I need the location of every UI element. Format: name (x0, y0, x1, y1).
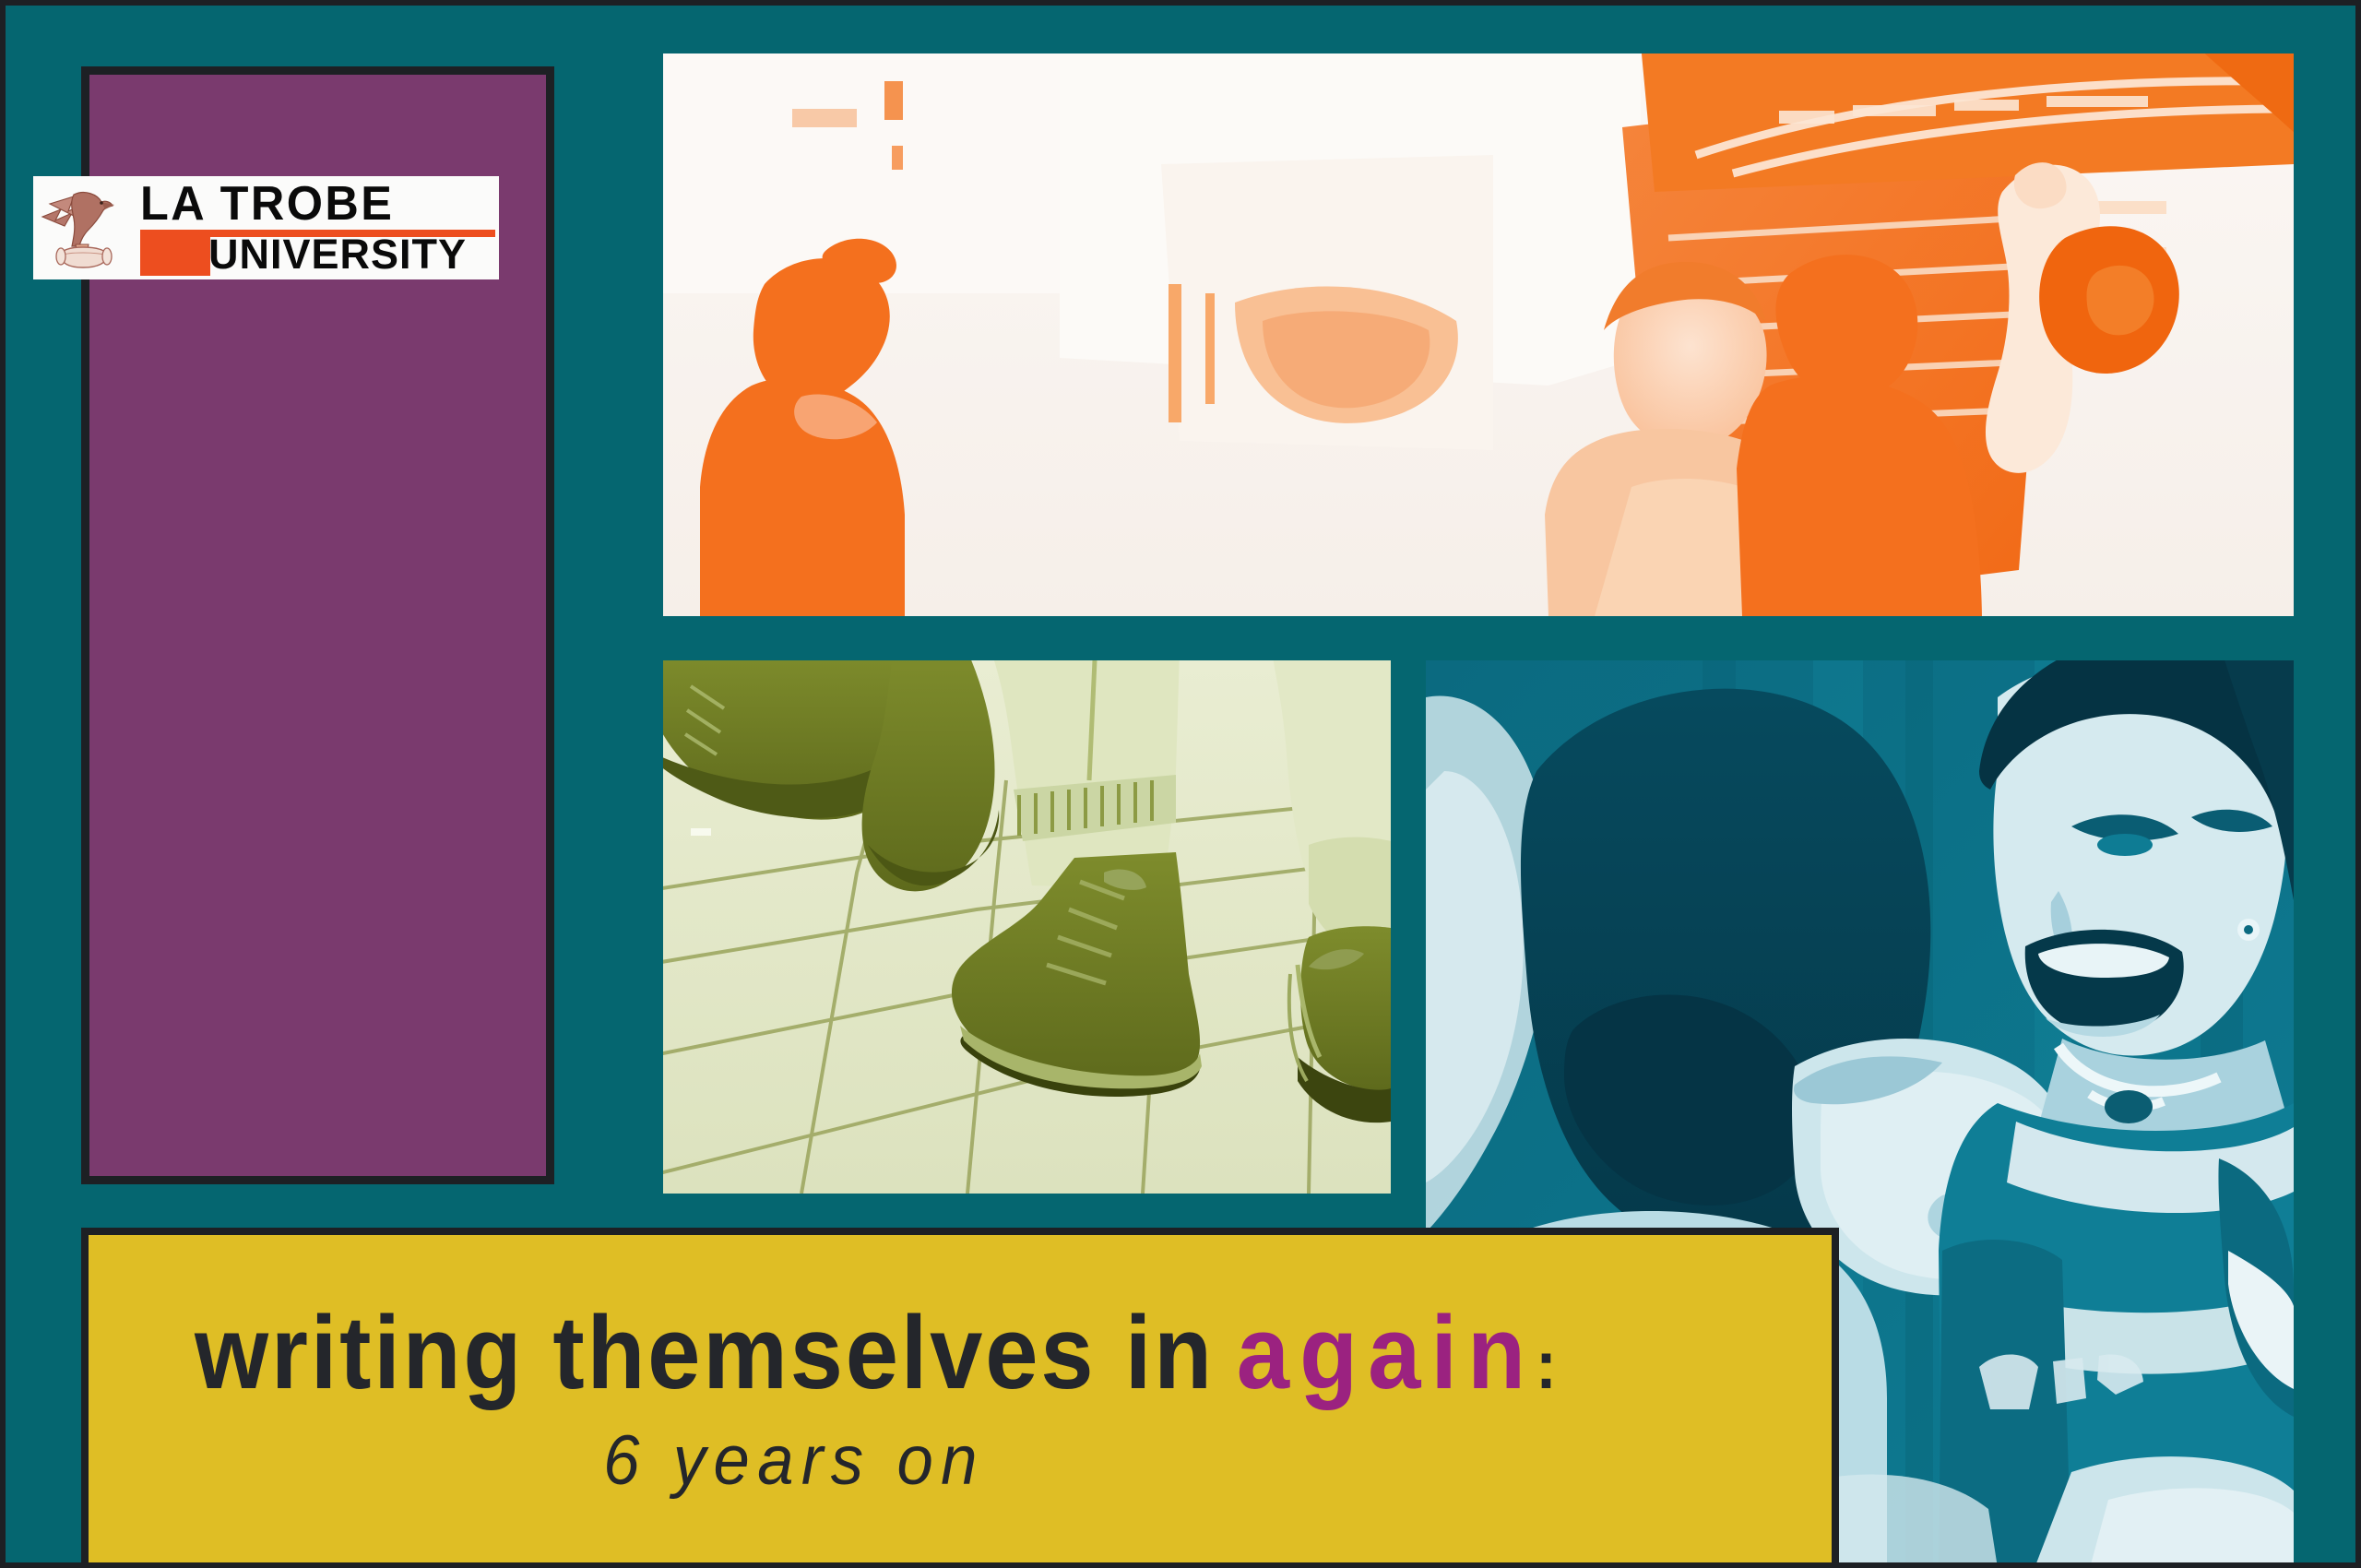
logo-wordmark: LA TROBE UNIVERSITY (133, 176, 499, 279)
photo-orange-payphone (663, 53, 2294, 616)
eagle-crest-icon (33, 176, 133, 279)
title-colon: : (1536, 1326, 1557, 1403)
poster-cover: LA TROBE UNIVERSITY (0, 0, 2361, 1568)
logo-orange-block (140, 230, 210, 276)
logo-line-la-trobe: LA TROBE (140, 180, 394, 228)
page-subtitle: 6 years on (138, 1426, 1451, 1496)
title-banner: writing themselves inagain: 6 years on (81, 1228, 1839, 1568)
title-accent-word: again (1237, 1295, 1536, 1410)
photo-green-sneakers (663, 660, 1391, 1194)
title-main-text: writing themselves in (195, 1295, 1215, 1410)
page-title: writing themselves inagain: (195, 1301, 1557, 1417)
logo-line-university: UNIVERSITY (208, 233, 467, 275)
la-trobe-university-logo: LA TROBE UNIVERSITY (33, 176, 499, 279)
